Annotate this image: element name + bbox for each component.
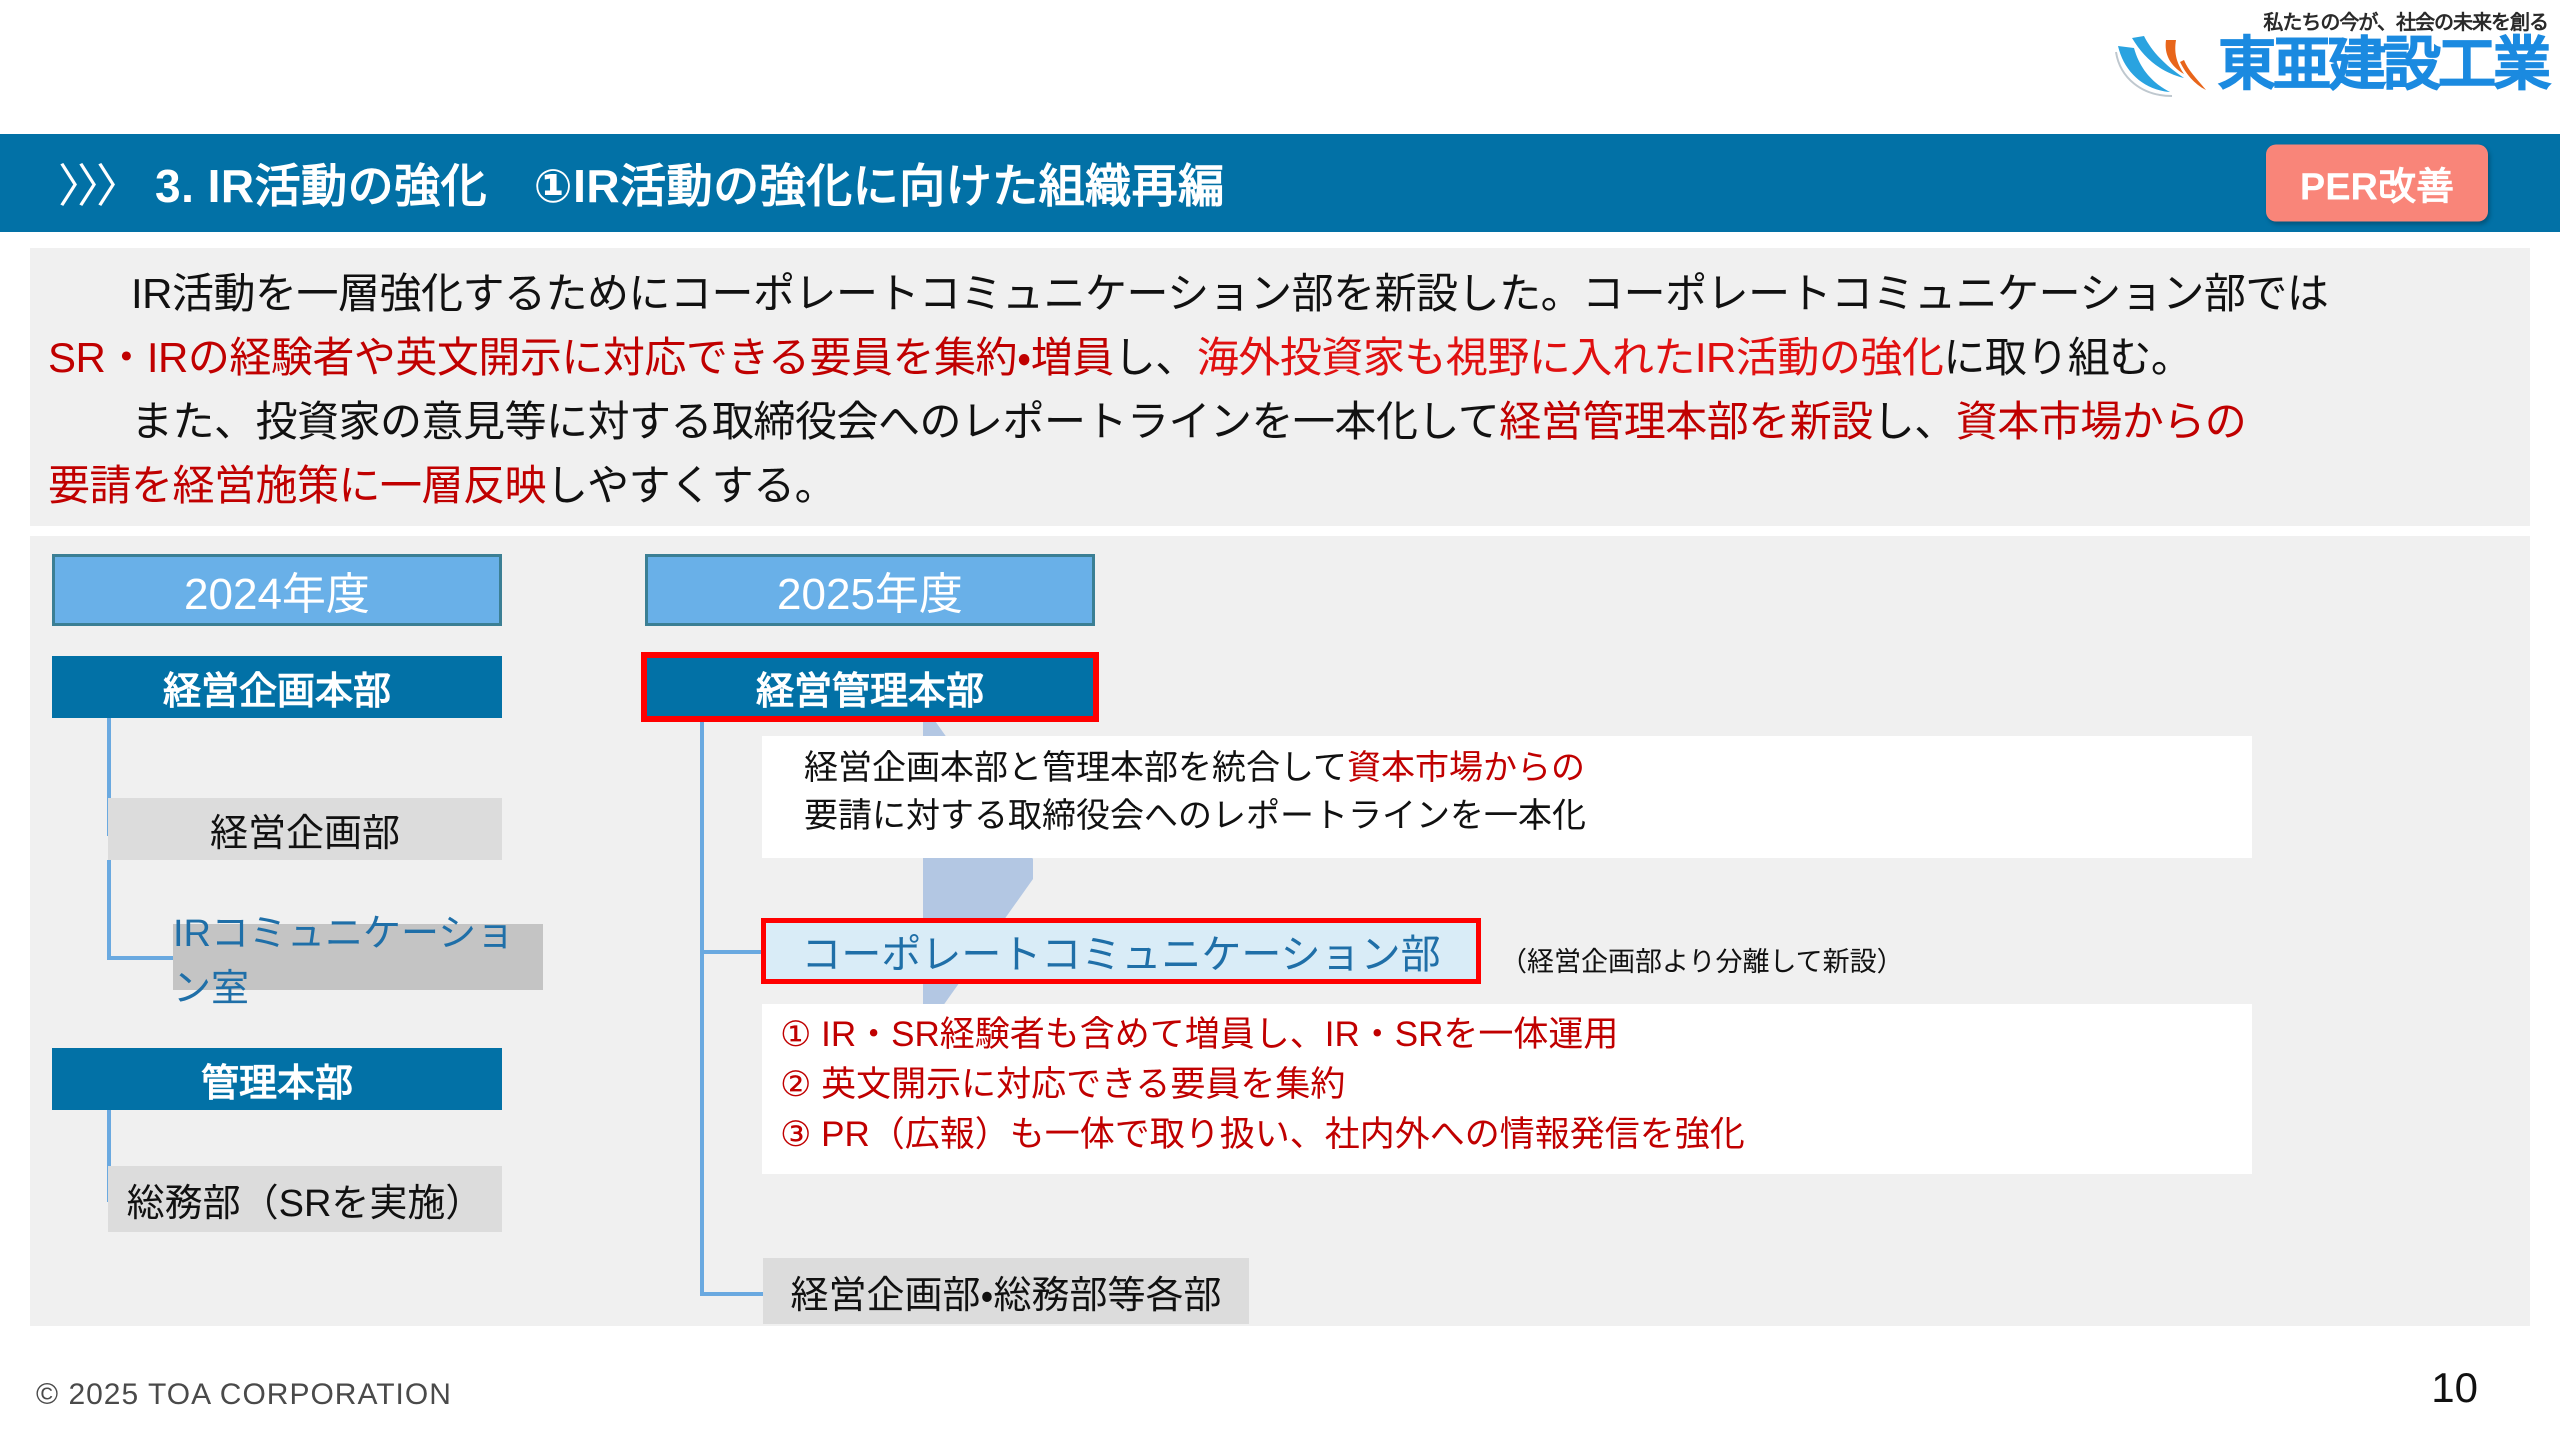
- sub-box-keiei-kikaku-bu: 経営企画部: [108, 798, 502, 860]
- sub-box-soumu-bu: 総務部（SRを実施）: [108, 1166, 502, 1232]
- summary-highlight-3a: 経営管理本部を新設: [1499, 398, 1873, 445]
- division-box-corporate-communication: コーポレートコミュニケーション部: [761, 918, 1481, 984]
- summary-highlight-2a: SR・IRの経験者や英文開示に対応できる要員を集約・増員: [48, 334, 1114, 381]
- bullet-box-cc-functions: ① IR・SR経験者も含めて増員し、IR・SRを一体運用 ② 英文開示に対応でき…: [762, 1004, 2252, 1174]
- toa-bird-logo-icon: [2114, 32, 2210, 98]
- footer-page-number: 10: [2431, 1364, 2478, 1412]
- summary-line-2: SR・IRの経験者や英文開示に対応できる要員を集約・増員し、海外投資家も視野に入…: [48, 326, 2512, 390]
- summary-text-2a: し、: [1114, 334, 1197, 381]
- note-box-integration: 経営企画本部と管理本部を統合して資本市場からの 要請に対する取締役会へのレポート…: [762, 736, 2252, 858]
- summary-text-4a: しやすくする。: [546, 462, 836, 509]
- connector-vertical-left-2: [107, 860, 111, 960]
- connector-horizontal-right-cc: [700, 950, 764, 954]
- summary-text-2b: に取り組む。: [1943, 334, 2192, 381]
- footer-copyright: © 2025 TOA CORPORATION: [36, 1378, 452, 1412]
- summary-line-4: 要請を経営施策に一層反映しやすくする。: [48, 454, 2512, 518]
- note-highlight-1: 資本市場からの: [1347, 749, 1585, 787]
- brand-lockup: 東亜建設工業: [2114, 32, 2548, 98]
- year-header-2024: 2024年度: [52, 554, 502, 626]
- note-line-1: 経営企画本部と管理本部を統合して資本市場からの: [804, 744, 2252, 792]
- division-box-keiei-kikaku-honbu: 経営企画本部: [52, 656, 502, 718]
- summary-highlight-3b: 資本市場からの: [1956, 398, 2247, 445]
- page-title: 3. IR活動の強化 ①IR活動の強化に向けた組織再編: [155, 150, 1225, 216]
- connector-horizontal-right-other: [700, 1292, 764, 1296]
- division-box-keiei-kanri-honbu: 経営管理本部: [641, 652, 1099, 722]
- status-badge-per: PER改善: [2266, 145, 2488, 222]
- connector-vertical-right-main: [700, 722, 704, 1296]
- bullet-item-3: ③ PR（広報）も一体で取り扱い、社内外への情報発信を強化: [780, 1110, 2252, 1160]
- summary-highlight-4a: 要請を経営施策に一層反映: [48, 462, 546, 509]
- cc-department-aside-note: （経営企画部より分離して新設）: [1500, 940, 1904, 979]
- note-line-2: 要請に対する取締役会へのレポートラインを一本化: [804, 792, 2252, 840]
- summary-text-3a: また、投資家の意見等に対する取締役会へのレポートラインを一本化して: [48, 398, 1499, 445]
- brand-tagline: 私たちの今が、社会の未来を創る: [2263, 6, 2548, 35]
- summary-highlight-2b: 海外投資家も視野に入れたIR活動の強化: [1197, 334, 1944, 381]
- slide-title-bar: 〉〉〉 3. IR活動の強化 ①IR活動の強化に向けた組織再編 PER改善: [0, 134, 2560, 232]
- note-text-1: 経営企画本部と管理本部を統合して: [804, 749, 1347, 787]
- summary-line-1: IR活動を一層強化するためにコーポレートコミュニケーション部を新設した。コーポレ…: [48, 262, 2512, 326]
- org-restructure-diagram: 2024年度 経営企画本部 経営企画部 IRコミュニケーション室 管理本部 総務…: [30, 536, 2530, 1326]
- summary-text-1: IR活動を一層強化するためにコーポレートコミュニケーション部を新設した。コーポレ…: [48, 270, 2328, 317]
- summary-text-3b: し、: [1873, 398, 1956, 445]
- sub-box-ir-communication-shitsu: IRコミュニケーション室: [173, 924, 543, 990]
- brand-wordmark: 東亜建設工業: [2218, 36, 2548, 94]
- bullet-item-1: ① IR・SR経験者も含めて増員し、IR・SRを一体運用: [780, 1010, 2252, 1060]
- connector-horizontal-left-2: [107, 956, 175, 960]
- summary-panel: IR活動を一層強化するためにコーポレートコミュニケーション部を新設した。コーポレ…: [30, 248, 2530, 526]
- bullet-item-2: ② 英文開示に対応できる要員を集約: [780, 1060, 2252, 1110]
- sub-box-other-departments: 経営企画部・総務部等各部: [763, 1258, 1249, 1324]
- brand-logo-area: 私たちの今が、社会の未来を創る 東亜建設工業: [2040, 0, 2560, 128]
- summary-line-3: また、投資家の意見等に対する取締役会へのレポートラインを一本化して経営管理本部を…: [48, 390, 2512, 454]
- year-header-2025: 2025年度: [645, 554, 1095, 626]
- division-box-kanri-honbu: 管理本部: [52, 1048, 502, 1110]
- chevron-triple-icon: 〉〉〉: [58, 150, 138, 216]
